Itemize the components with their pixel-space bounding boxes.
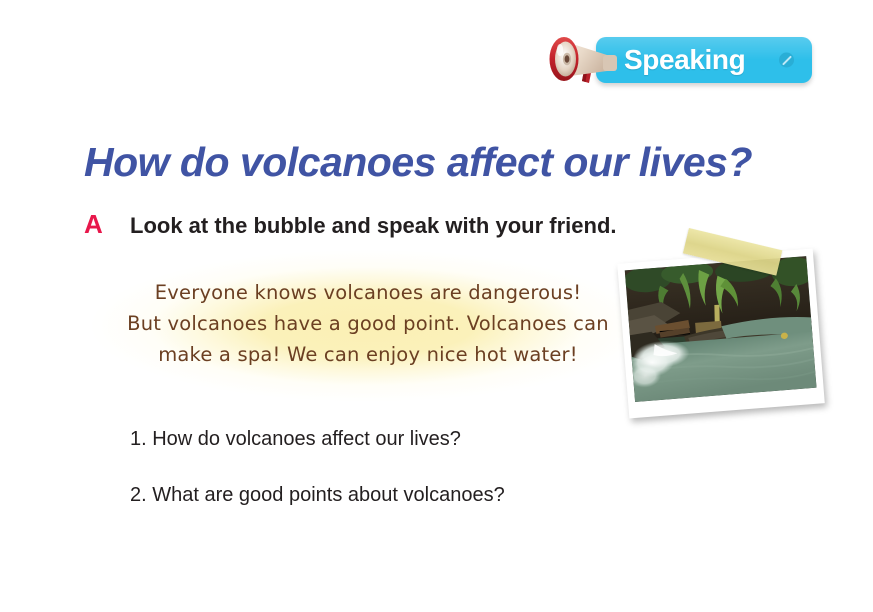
bubble-line: make a spa! We can enjoy nice hot water! — [108, 339, 628, 370]
bubble-line: Everyone knows volcanoes are dangerous! — [108, 277, 628, 308]
question-item: 2. What are good points about volcanoes? — [130, 484, 600, 507]
photo-frame — [617, 249, 825, 419]
speaking-label: Speaking — [624, 44, 745, 76]
task-instruction: Look at the bubble and speak with your f… — [130, 213, 617, 239]
bubble-line: But volcanoes have a good point. Volcano… — [108, 308, 628, 339]
page-title: How do volcanoes affect our lives? — [84, 139, 844, 186]
bubble-text: Everyone knows volcanoes are dangerous! … — [108, 277, 628, 370]
spa-photo — [617, 249, 825, 419]
hot-spring-image — [625, 256, 817, 402]
megaphone-icon — [545, 27, 631, 89]
question-item: 1. How do volcanoes affect our lives? — [130, 428, 600, 451]
task-marker-a: A — [84, 209, 130, 240]
questions-list: 1. How do volcanoes affect our lives? 2.… — [130, 428, 600, 540]
task-a-row: A Look at the bubble and speak with your… — [84, 209, 617, 240]
slash-circle-icon — [779, 53, 794, 68]
